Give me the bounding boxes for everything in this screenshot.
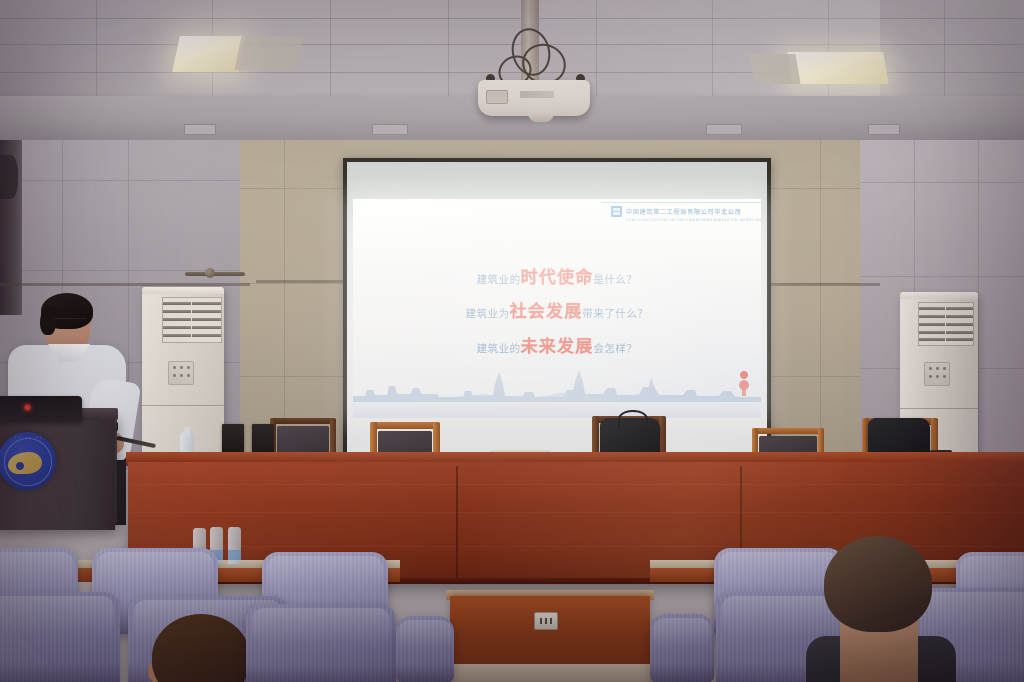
projector-brand-label [520,91,554,98]
audience-seat-r1-1[interactable] [0,592,120,682]
slide-company-logo: 中国建筑第二工程局有限公司华北公司 [611,206,741,217]
slide-question-3: 建筑业的未来发展会怎样？ [353,332,761,357]
wall-knob [205,268,215,278]
ac-left-logo-icon [188,347,193,352]
company-logo-text: 中国建筑第二工程局有限公司华北公司 [626,207,741,216]
slide-q2-post: 带来了什么？ [582,308,648,320]
audience-seat-r1-5[interactable] [650,614,714,682]
power-socket[interactable] [534,612,558,630]
ac-right-logo-icon [942,350,947,355]
projected-slide: 中国建筑第二工程局有限公司华北公司 CHINA CONSTRUCTION SEC… [353,199,761,418]
slide-q1-pre: 建筑业的 [477,274,521,286]
audience-seat-r1-4[interactable] [396,616,454,682]
ceiling-light-left-dim [234,36,303,70]
ceiling-bulkhead-face [0,118,1024,140]
laptop-status-led-icon [24,404,31,411]
slide-q1-post: 是什么？ [593,274,637,286]
ac-left-grille [162,297,222,343]
water-pitcher-neck [184,427,190,437]
ac-right-grille [918,302,974,346]
ac-left-top [142,287,224,294]
bag-handle-center [618,410,648,428]
slide-footer-band [353,402,761,418]
slide-q3-highlight: 未来发展 [521,337,594,357]
audience-member-right-head [824,536,932,632]
wall-rail-bracket [185,272,245,276]
company-logo-subtext: CHINA CONSTRUCTION SECOND ENGINEERING BU… [625,218,761,222]
audience-seat-r1-3[interactable] [246,604,396,682]
ac-right-top [900,292,978,299]
slide-skyline-graphic [353,364,761,404]
ac-right-control-panel[interactable] [924,362,950,386]
lectern-emblem-text: ⌒ ⌒ ⌒ [2,436,56,443]
slide-accent-graphic [739,370,749,396]
presenter-laptop[interactable] [0,396,82,422]
ceiling-light-right [787,52,889,84]
conference-room-photo: 中国建筑第二工程局有限公司华北公司 CHINA CONSTRUCTION SEC… [0,0,1024,682]
ac-left-control-panel[interactable] [168,361,194,385]
slide-q3-pre: 建筑业的 [477,343,521,355]
wall-trim-rail-right [768,283,880,286]
wall-trim-rail-left [0,283,250,286]
slide-question-1: 建筑业的时代使命是什么？ [353,263,761,288]
water-bottle-3-label [228,550,241,560]
slide-logo-rule [601,202,761,203]
slide-q1-highlight: 时代使命 [521,268,594,288]
lectern-emblem-center-dot [16,462,24,470]
ceiling-light-right-dim [749,54,800,84]
projector-lens [528,110,554,122]
slide-q2-highlight: 社会发展 [510,302,583,322]
slide-q3-post: 会怎样？ [593,343,637,355]
projector-vent [486,90,508,104]
riser-base [446,664,654,682]
presenter-glasses [54,318,86,327]
slide-q2-pre: 建筑业为 [466,308,510,320]
company-logo-mark-icon [611,206,622,217]
wall-fixture-dark [0,155,18,199]
slide-question-2: 建筑业为社会发展带来了什么？ [353,297,761,322]
lectern-emblem-hand-icon [8,452,42,474]
